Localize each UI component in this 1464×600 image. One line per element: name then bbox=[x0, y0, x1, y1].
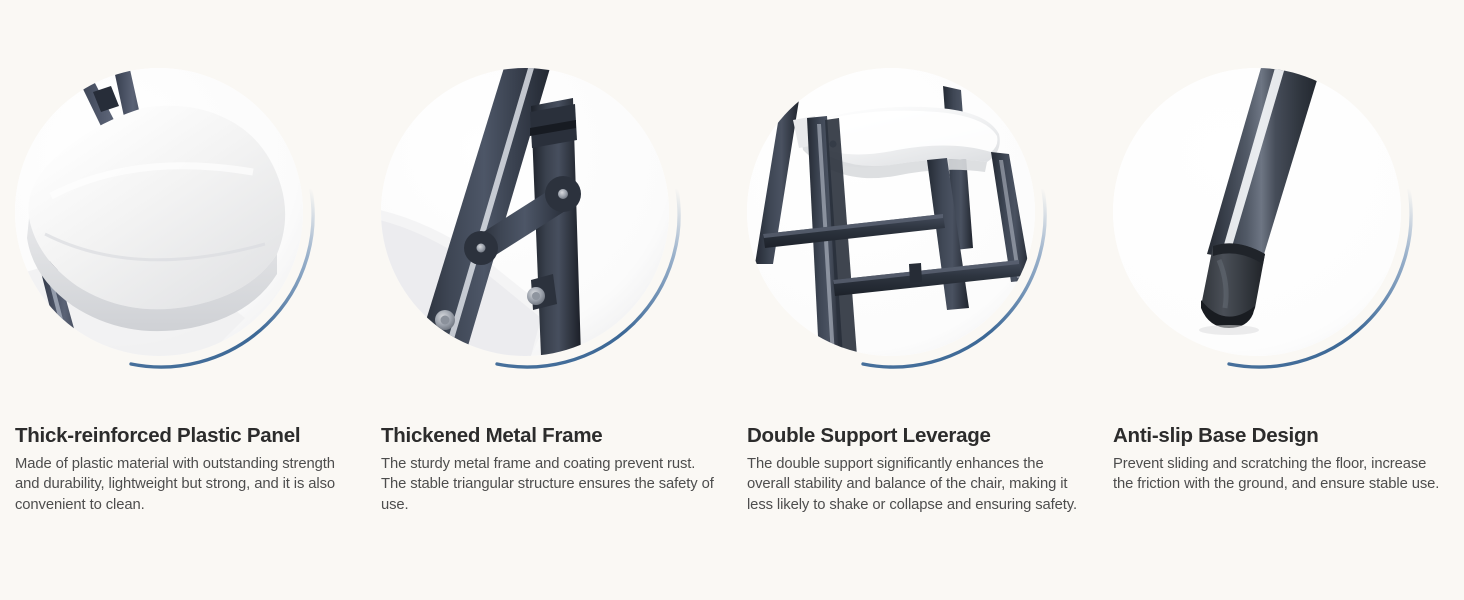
metal-frame-photo bbox=[381, 68, 669, 356]
feature-title: Double Support Leverage bbox=[747, 424, 1087, 449]
double-support-photo bbox=[747, 68, 1035, 356]
feature-list: Thick-reinforced Plastic Panel Made of p… bbox=[0, 0, 1464, 600]
feature-description: Made of plastic material with outstandin… bbox=[15, 454, 345, 516]
feature-card-plastic-panel: Thick-reinforced Plastic Panel Made of p… bbox=[0, 0, 366, 600]
product-feature-infographic: Thick-reinforced Plastic Panel Made of p… bbox=[0, 0, 1464, 600]
feature-image-medallion bbox=[1113, 68, 1417, 372]
feature-copy: Thickened Metal Frame The sturdy metal f… bbox=[381, 424, 721, 515]
feature-card-metal-frame: Thickened Metal Frame The sturdy metal f… bbox=[366, 0, 732, 600]
feature-copy: Anti-slip Base Design Prevent sliding an… bbox=[1113, 424, 1443, 495]
feature-image-medallion bbox=[381, 68, 685, 372]
feature-copy: Thick-reinforced Plastic Panel Made of p… bbox=[15, 424, 345, 515]
feature-title: Thickened Metal Frame bbox=[381, 424, 721, 449]
feature-copy: Double Support Leverage The double suppo… bbox=[747, 424, 1087, 515]
feature-description: The double support significantly enhance… bbox=[747, 454, 1087, 516]
seat-panel-photo bbox=[15, 68, 303, 356]
anti-slip-foot-photo bbox=[1113, 68, 1401, 356]
feature-card-anti-slip-base: Anti-slip Base Design Prevent sliding an… bbox=[1098, 0, 1464, 600]
feature-image-medallion bbox=[747, 68, 1051, 372]
feature-card-double-support: Double Support Leverage The double suppo… bbox=[732, 0, 1098, 600]
feature-image-medallion bbox=[15, 68, 319, 372]
feature-description: The sturdy metal frame and coating preve… bbox=[381, 454, 721, 516]
feature-description: Prevent sliding and scratching the floor… bbox=[1113, 454, 1443, 495]
feature-title: Thick-reinforced Plastic Panel bbox=[15, 424, 345, 449]
feature-title: Anti-slip Base Design bbox=[1113, 424, 1443, 449]
